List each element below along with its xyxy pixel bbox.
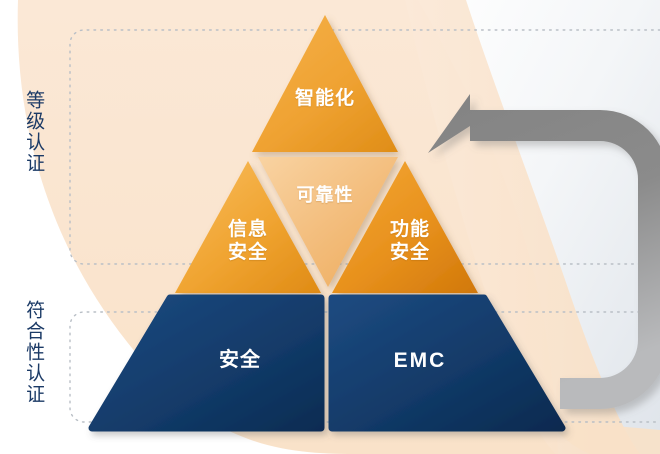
node-label-emc[interactable]: EMC <box>360 348 480 374</box>
node-label-reliability[interactable]: 可靠性 <box>270 185 380 207</box>
diagram-canvas: 等级认证 符合性认证 智能化 可靠性 信息 安全 功能 安全 安全 EMC <box>0 0 660 454</box>
side-label-compliance: 符合性认证 <box>24 300 44 405</box>
node-label-intelligent[interactable]: 智能化 <box>265 87 385 110</box>
feedback-arrow-graphic <box>0 0 660 454</box>
side-label-grade: 等级认证 <box>24 90 44 174</box>
node-label-infosec[interactable]: 信息 安全 <box>198 218 298 264</box>
node-label-safety[interactable]: 安全 <box>180 348 300 372</box>
node-label-funcsafe[interactable]: 功能 安全 <box>360 218 460 264</box>
